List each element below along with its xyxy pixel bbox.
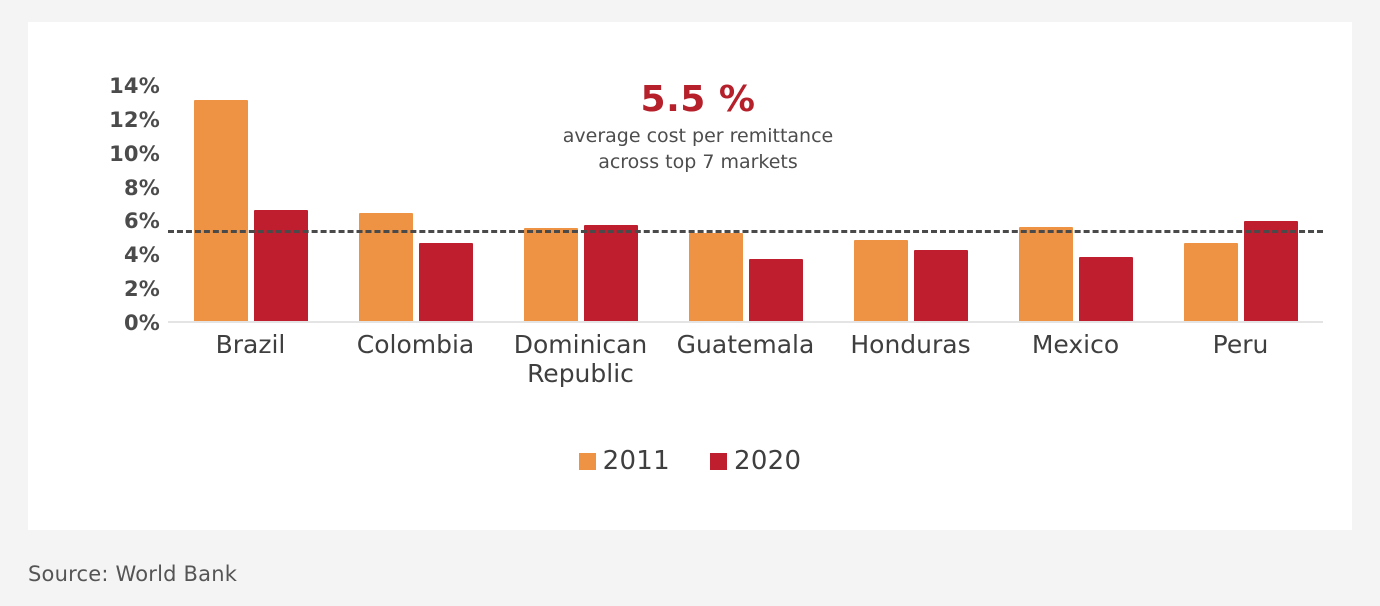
bar-guatemala-2020[interactable] [749, 259, 803, 323]
y-axis-tick-4: 4% [60, 243, 160, 267]
x-axis-label-guatemala: Guatemala [663, 330, 828, 388]
legend-item-2011[interactable]: 2011 [579, 446, 670, 476]
average-annotation: 5.5 % average cost per remittance across… [458, 80, 938, 175]
bar-group [168, 77, 333, 323]
bar-brazil-2020[interactable] [254, 210, 308, 323]
legend-label: 2011 [603, 446, 670, 476]
legend-item-2020[interactable]: 2020 [710, 446, 801, 476]
y-axis-tick-2: 2% [60, 277, 160, 301]
bar-group [993, 77, 1158, 323]
bar-mexico-2011[interactable] [1019, 227, 1073, 323]
y-axis-labels: 14%12%10%8%6%4%2%0% [60, 77, 160, 323]
legend-label: 2020 [734, 446, 801, 476]
x-axis-label-line: Colombia [335, 330, 496, 359]
x-axis-label-colombia: Colombia [333, 330, 498, 388]
legend-swatch-icon [710, 453, 727, 470]
annotation-description: average cost per remittance across top 7… [458, 124, 938, 175]
bar-honduras-2011[interactable] [854, 240, 908, 323]
x-axis-label-line: Republic [500, 359, 661, 388]
x-axis-labels: BrazilColombiaDominicanRepublicGuatemala… [168, 330, 1323, 388]
average-reference-line [168, 230, 1323, 233]
y-axis-tick-14: 14% [60, 74, 160, 98]
bar-group [1158, 77, 1323, 323]
x-axis-label-honduras: Honduras [828, 330, 993, 388]
bar-mexico-2020[interactable] [1079, 257, 1133, 323]
y-axis-tick-10: 10% [60, 142, 160, 166]
annotation-value: 5.5 % [458, 80, 938, 120]
y-axis-tick-12: 12% [60, 108, 160, 132]
bar-colombia-2020[interactable] [419, 243, 473, 323]
y-axis-tick-6: 6% [60, 209, 160, 233]
y-axis-tick-0: 0% [60, 311, 160, 335]
y-axis-tick-8: 8% [60, 176, 160, 200]
bar-dominican-republic-2011[interactable] [524, 228, 578, 323]
x-axis-baseline [168, 321, 1323, 323]
annotation-description-line-1: average cost per remittance [458, 124, 938, 149]
x-axis-label-brazil: Brazil [168, 330, 333, 388]
x-axis-label-line: Dominican [500, 330, 661, 359]
bar-dominican-republic-2020[interactable] [584, 225, 638, 323]
x-axis-label-line: Honduras [830, 330, 991, 359]
bar-guatemala-2011[interactable] [689, 233, 743, 323]
chart-legend: 20112020 [28, 446, 1352, 476]
x-axis-label-line: Peru [1160, 330, 1321, 359]
x-axis-label-line: Guatemala [665, 330, 826, 359]
x-axis-label-peru: Peru [1158, 330, 1323, 388]
source-caption: Source: World Bank [28, 562, 237, 586]
chart-page: 14%12%10%8%6%4%2%0% BrazilColombiaDomini… [0, 0, 1380, 606]
bar-peru-2020[interactable] [1244, 221, 1298, 323]
x-axis-label-line: Mexico [995, 330, 1156, 359]
bar-honduras-2020[interactable] [914, 250, 968, 323]
bar-group-bars [168, 77, 333, 323]
bar-group-bars [1158, 77, 1323, 323]
annotation-description-line-2: across top 7 markets [458, 150, 938, 175]
x-axis-label-line: Brazil [170, 330, 331, 359]
bar-brazil-2011[interactable] [194, 100, 248, 323]
x-axis-label-dominican-republic: DominicanRepublic [498, 330, 663, 388]
bar-group-bars [993, 77, 1158, 323]
legend-swatch-icon [579, 453, 596, 470]
bar-peru-2011[interactable] [1184, 243, 1238, 323]
x-axis-label-mexico: Mexico [993, 330, 1158, 388]
chart-card: 14%12%10%8%6%4%2%0% BrazilColombiaDomini… [28, 22, 1352, 530]
